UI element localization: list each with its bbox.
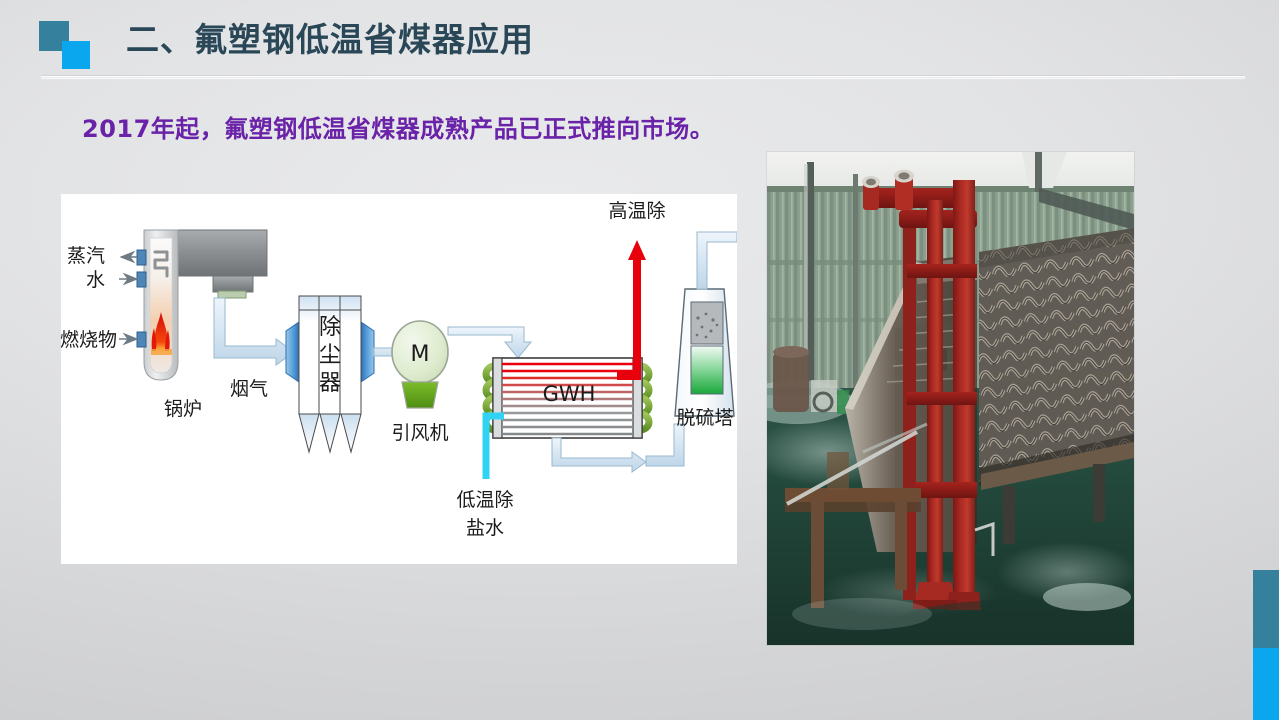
low-temp-demineralized-water-line <box>479 402 504 479</box>
dust-collector-unit: 除 尘 器 <box>286 296 374 452</box>
label-induced-draft-fan: 引风机 <box>391 422 448 444</box>
title-decoration-square-cyan <box>62 41 90 69</box>
label-dust-collector-char-1: 除 <box>319 315 341 340</box>
edge-accent-teal <box>1253 570 1279 648</box>
installation-photo <box>767 152 1134 645</box>
photo-flange-1 <box>862 176 880 210</box>
edge-accent-cyan <box>1253 648 1279 720</box>
label-low-temp-water-line1: 低温除 <box>456 489 513 511</box>
desulfurization-tower-unit <box>675 232 737 416</box>
label-fan-motor: M <box>411 342 430 367</box>
label-high-temp-water-line1: 高温除 <box>608 200 665 222</box>
page-title: 二、氟塑钢低温省煤器应用 <box>126 18 534 62</box>
label-boiler: 锅炉 <box>164 398 202 420</box>
label-dust-collector-char-2: 尘 <box>319 343 341 368</box>
photo-background-tank <box>773 352 809 412</box>
duct-fan-to-heat-exchanger <box>448 327 531 358</box>
induced-draft-fan-unit: M <box>392 321 448 408</box>
label-water: 水 <box>86 269 105 291</box>
slide-canvas: 二、氟塑钢低温省煤器应用 2017年起，氟塑钢低温省煤器成熟产品已正式推向市场。 <box>0 0 1279 720</box>
subtitle-text: 2017年起，氟塑钢低温省煤器成熟产品已正式推向市场。 <box>82 109 714 144</box>
label-fuel: 燃烧物 <box>61 329 117 351</box>
process-flow-diagram-panel: 蒸汽 水 燃烧物 锅炉 烟气 除 尘 器 <box>61 194 737 564</box>
duct-tower-inlet <box>646 424 684 466</box>
label-heat-exchanger: GWH <box>543 382 596 406</box>
label-dust-collector-char-3: 器 <box>319 371 341 396</box>
high-temp-demineralized-water-line <box>617 240 646 376</box>
heat-exchanger-gwh-unit: GWH <box>486 358 649 438</box>
label-flue-gas: 烟气 <box>230 378 268 400</box>
photo-flange-2 <box>894 170 914 211</box>
duct-heat-exchanger-to-tower <box>552 438 646 472</box>
duct-boiler-to-dust-collector <box>214 298 294 365</box>
label-desulfurization-tower: 脱硫塔 <box>676 407 733 429</box>
label-steam: 蒸汽 <box>67 245 105 267</box>
title-divider <box>41 75 1245 78</box>
label-low-temp-water-line2: 盐水 <box>466 517 504 539</box>
